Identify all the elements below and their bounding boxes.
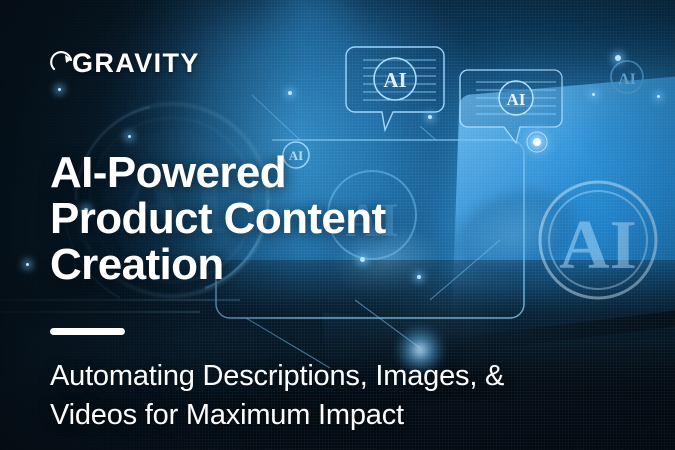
glow-dot: [128, 135, 131, 138]
headline-line-3: Creation: [50, 242, 650, 288]
glow-dot: [428, 115, 432, 119]
glow-dot: [288, 91, 292, 95]
glow-dot: [615, 55, 621, 61]
subtitle-line-2: Videos for Maximum Impact: [50, 396, 650, 435]
page-title: AI-Powered Product Content Creation: [50, 150, 650, 288]
brand-name: GRAVITY: [72, 50, 200, 77]
glow-dot: [592, 93, 595, 96]
promo-banner: AI AI AI: [0, 0, 675, 450]
orbit-arrow-icon: [50, 51, 76, 77]
subtitle-line-1: Automating Descriptions, Images, &: [50, 357, 650, 396]
brand-logo[interactable]: GRAVITY: [50, 50, 200, 77]
glow-dot: [58, 88, 61, 91]
headline-line-2: Product Content: [50, 196, 650, 242]
subtitle: Automating Descriptions, Images, & Video…: [50, 357, 650, 435]
glow-dot: [26, 263, 29, 266]
glow-dot: [657, 95, 660, 98]
title-divider: [50, 328, 125, 335]
copy-block: AI-Powered Product Content Creation Auto…: [50, 150, 650, 435]
headline-line-1: AI-Powered: [50, 150, 650, 196]
